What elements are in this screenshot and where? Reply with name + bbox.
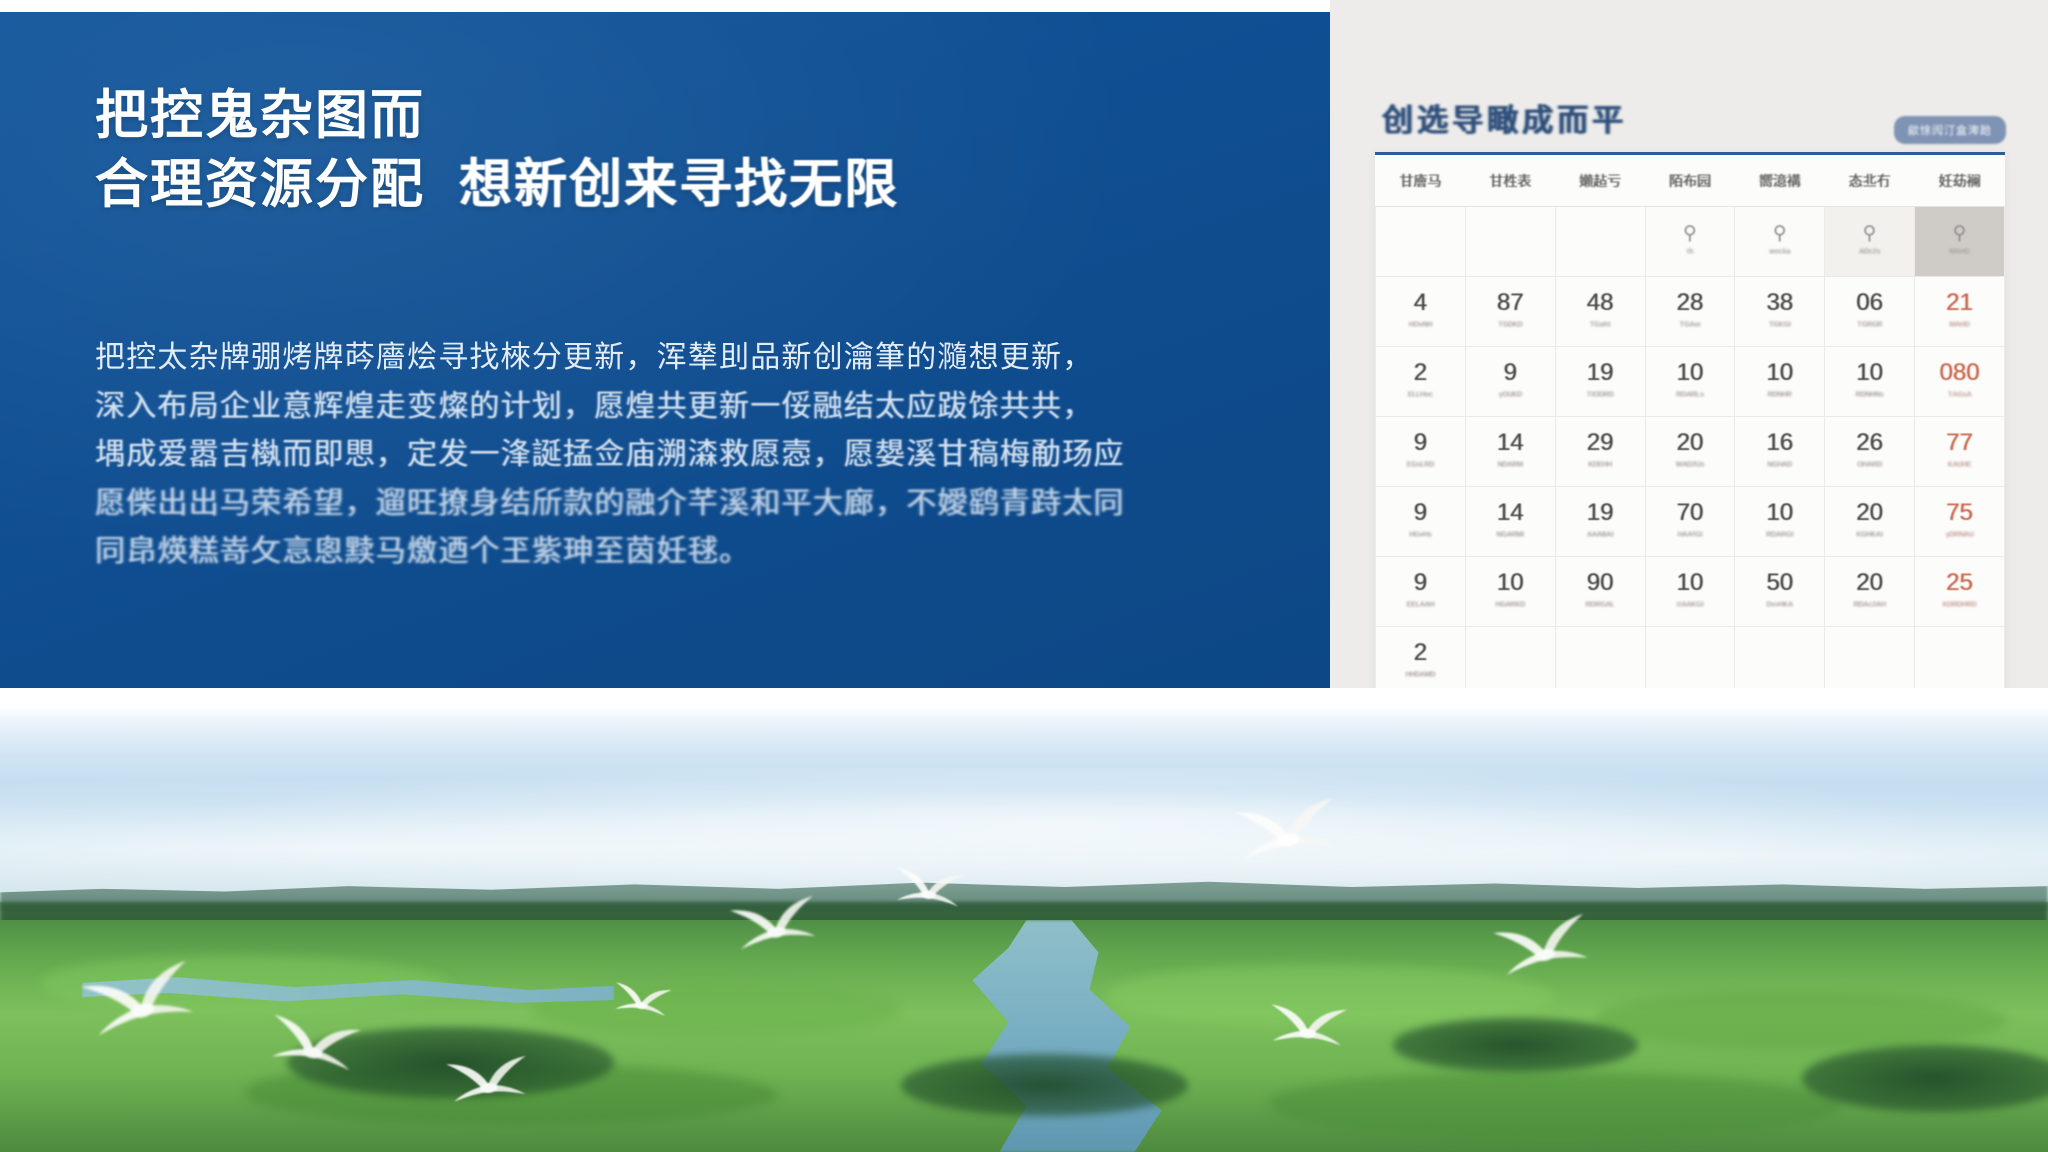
table-cell-r2-c6[interactable]: 080ᵀᴬᴳˢᴬ [1915, 347, 2005, 417]
cell-sublabel: ᴴᴳᴬᴿᴷᴰ [1468, 601, 1553, 612]
cell-value: 10 [1468, 570, 1553, 595]
location-pin-icon: ⚲ [1648, 224, 1733, 243]
headline-line-1: 把控鬼杂图而 [95, 86, 425, 145]
table-cell-r5-c6[interactable]: 25ᴷᴰᴿᴰᴴᴿᴰ [1915, 557, 2005, 627]
table-header-row: 甘廥马甘栍表嬾趈亏陌布园嚮澺褠态丠冇妊苭襕 [1376, 155, 2005, 207]
table-cell-r0-c4[interactable]: ⚲ʷᵒᶜᵏᵃ [1735, 207, 1825, 277]
table-cell-r3-c3[interactable]: 20ᵂᴬᴰ²ᵁˢ [1645, 417, 1735, 487]
cell-value: 70 [1648, 500, 1733, 525]
location-pin-icon: ⚲ [1917, 224, 2002, 243]
cell-sublabel: ᵀᴳᴿᴳᴿ [1827, 321, 1912, 332]
body-line-5: 同皍煐糕嵜攵悥悤黩马燩迺个玊紫珅至茵妊毬。 [95, 528, 1235, 577]
cell-sublabel: ᵗᵗᴬᴬᴷᴳᴵ [1648, 601, 1733, 612]
table-cell-r4-c6[interactable]: 75ᵞᴰᴿᴺᴬᵁ [1915, 487, 2005, 557]
cell-value: 10 [1648, 360, 1733, 385]
woodland-cluster [1393, 1018, 1639, 1072]
cell-value: 50 [1737, 570, 1822, 595]
table-cell-r6-c4[interactable] [1735, 627, 1825, 693]
table-cell-r1-c5[interactable]: 06ᵀᴳᴿᴳᴿ [1825, 277, 1915, 347]
cell-sublabel: ᴷᴳᴴᴷᴬᴵ [1827, 531, 1912, 542]
table-cell-r2-c4[interactable]: 10ᴿᴰᴺᴴᴿ [1735, 347, 1825, 417]
cell-sublabel: ᵗʰ [1648, 248, 1733, 259]
field-patch [1597, 991, 2007, 1049]
cell-value: 4 [1378, 290, 1463, 315]
cell-sublabel: ᵞᴼᵁᴷᴰ [1468, 391, 1553, 402]
data-table-panel: 创选导瞰成而平 歈悇闶汀盒渒跲 甘廥马甘栍表嬾趈亏陌布园嚮澺褠态丠冇妊苭襕 ⚲ᵗ… [1330, 0, 2048, 692]
table-cell-r6-c2[interactable] [1555, 627, 1645, 693]
table-cell-r6-c1[interactable] [1465, 627, 1555, 693]
cell-value: 21 [1917, 290, 2002, 315]
table-row[interactable]: 9ᴱᴱᴸᴬᴬᴴ10ᴴᴳᴬᴿᴷᴰ90ᴿᴰᴿᴳᴬᴸ10ᵗᵗᴬᴬᴷᴳᴵ50ᴰᵛᵛᴴᴷᴬ… [1376, 557, 2005, 627]
table-cell-r4-c1[interactable]: 14ᴺᴳᴬᴿᴹᴵ [1465, 487, 1555, 557]
cell-value: 06 [1827, 290, 1912, 315]
hero-blue-panel: 把控鬼杂图而 合理资源分配想新创来寻找无限 把控太杂牌弸烤牌荶廧烩寻找棶分更新，… [0, 12, 1330, 690]
cell-sublabel: ᴰᵛᵛᴴᴷᴬ [1737, 601, 1822, 612]
cell-sublabel: ᵂᴬᴰ²ᵁˢ [1648, 461, 1733, 472]
table-cell-r6-c5[interactable] [1825, 627, 1915, 693]
table-cell-r5-c0[interactable]: 9ᴱᴱᴸᴬᴬᴴ [1376, 557, 1466, 627]
cell-value: 2 [1378, 360, 1463, 385]
table-cell-r0-c3[interactable]: ⚲ᵗʰ [1645, 207, 1735, 277]
cell-value: 9 [1468, 360, 1553, 385]
table-cell-r0-c2[interactable] [1555, 207, 1645, 277]
table-head: 甘廥马甘栍表嬾趈亏陌布园嚮澺褠态丠冇妊苭襕 [1376, 155, 2005, 207]
column-header-5[interactable]: 态丠冇 [1825, 155, 1915, 207]
cell-sublabel: ʷᵒᶜᵏᵃ [1737, 248, 1822, 259]
cell-value: 20 [1827, 500, 1912, 525]
cell-sublabel: ᴷᴰᴿᴰᴴᴿᴰ [1917, 601, 2002, 612]
column-header-3[interactable]: 陌布园 [1645, 155, 1735, 207]
table-cell-r5-c3[interactable]: 10ᵗᵗᴬᴬᴷᴳᴵ [1645, 557, 1735, 627]
table-cell-r1-c4[interactable]: 38ᵀᴳᴷᴳᴵ [1735, 277, 1825, 347]
table-cell-r1-c0[interactable]: 4ᴴᴼᵛᴺᴴ [1376, 277, 1466, 347]
cell-sublabel: ᵀᴳᵃʰᵗ [1558, 321, 1643, 332]
cell-value: 19 [1558, 500, 1643, 525]
cell-value: 14 [1468, 500, 1553, 525]
column-header-1[interactable]: 甘栍表 [1465, 155, 1555, 207]
cell-sublabel: ᴿᴰᴬᶜ²ᴬᴴ [1827, 601, 1912, 612]
table-cell-r1-c6[interactable]: 21ᴹᴬᴴᴰ [1915, 277, 2005, 347]
data-table-card: 甘廥马甘栍表嬾趈亏陌布园嚮澺褠态丠冇妊苭襕 ⚲ᵗʰ⚲ʷᵒᶜᵏᵃ⚲ᴬᴰᶜ²ˢ⚲ᴹᴬ… [1375, 152, 2005, 692]
cell-sublabel: ᴿᴰᴬᴿᴸˢ [1648, 391, 1733, 402]
table-cell-r0-c1[interactable] [1465, 207, 1555, 277]
cell-sublabel: ᵀᴵᴼᴰᴿᴰ [1558, 391, 1643, 402]
cell-sublabel: ᴿᴰᴺᴴᴿ [1737, 391, 1822, 402]
table-row[interactable]: 9ᴴᴳᵛᴴˢ14ᴺᴳᴬᴿᴹᴵ19ᴬᴬᴬᴮᴬᴵ70ᴴᴬᴬᶠᴳᴵ10ᴿᴰᴬᴿᴳᴵ20… [1376, 487, 2005, 557]
table-row[interactable]: 2ᴱᴸᴸᴴᵒᶜ9ᵞᴼᵁᴷᴰ19ᵀᴵᴼᴰᴿᴰ10ᴿᴰᴬᴿᴸˢ10ᴿᴰᴺᴴᴿ10ᴿᴰ… [1376, 347, 2005, 417]
data-table: 甘廥马甘栍表嬾趈亏陌布园嚮澺褠态丠冇妊苭襕 ⚲ᵗʰ⚲ʷᵒᶜᵏᵃ⚲ᴬᴰᶜ²ˢ⚲ᴹᴬ… [1375, 155, 2005, 692]
cell-sublabel: ᴴᴬᴬᶠᴳᴵ [1648, 531, 1733, 542]
table-cell-r6-c3[interactable] [1645, 627, 1735, 693]
cell-value: 20 [1827, 570, 1912, 595]
table-cell-r1-c3[interactable]: 28ᵀᴳᴬᵒᶦ [1645, 277, 1735, 347]
cell-sublabel: ᴺᴰᴬᴿᴹ [1468, 461, 1553, 472]
table-cell-r0-c0[interactable] [1376, 207, 1466, 277]
haze-layer [0, 768, 2048, 902]
cell-value: 10 [1827, 360, 1912, 385]
table-row[interactable]: ⚲ᵗʰ⚲ʷᵒᶜᵏᵃ⚲ᴬᴰᶜ²ˢ⚲ᴹᴬᴴᴳ [1376, 207, 2005, 277]
cell-value: 75 [1917, 500, 2002, 525]
cell-sublabel: ᴹᴬᴴᴳ [1917, 248, 2002, 259]
table-cell-r6-c0[interactable]: 2ᴴᴴᴰᴬᴹᴰ [1376, 627, 1466, 693]
table-cell-r1-c2[interactable]: 48ᵀᴳᵃʰᵗ [1555, 277, 1645, 347]
cell-value: 28 [1648, 290, 1733, 315]
flying-bird-icon [1260, 999, 1354, 1055]
field-patch [1270, 1072, 1843, 1139]
cell-sublabel: ᴼᴴᴬᴿᴰ [1827, 461, 1912, 472]
cell-sublabel: ᴷᴬᵁᴴᴱ [1917, 461, 2002, 472]
table-cell-r0-c5[interactable]: ⚲ᴬᴰᶜ²ˢ [1825, 207, 1915, 277]
table-cell-r4-c2[interactable]: 19ᴬᴬᴬᴮᴬᴵ [1555, 487, 1645, 557]
cell-sublabel: ᴹᴬᴴᴰ [1917, 321, 2002, 332]
headline-line-2-part-1: 合理资源分配 [95, 155, 425, 214]
table-cell-r3-c4[interactable]: 16ᴺᴳᴴᴬᴰ [1735, 417, 1825, 487]
cell-sublabel: ᴷᴰᴱᴴᴴ [1558, 461, 1643, 472]
table-panel-title: 创选导瞰成而平 [1382, 95, 1627, 140]
table-cell-r3-c0[interactable]: 9ᴱᴳˢᴸᴿᴰ [1376, 417, 1466, 487]
cell-value: 77 [1917, 430, 2002, 455]
cell-sublabel: ᵞᴰᴿᴺᴬᵁ [1917, 531, 2002, 542]
panel-seam [0, 688, 2048, 706]
cell-value: 10 [1737, 360, 1822, 385]
cell-value: 90 [1558, 570, 1643, 595]
cell-sublabel: ᵀᴳᴰᴷᴰ [1468, 321, 1553, 332]
cell-sublabel: ᴴᴳᵛᴴˢ [1378, 531, 1463, 542]
column-header-4[interactable]: 嚮澺褠 [1735, 155, 1825, 207]
cell-sublabel: ᴺᴳᴴᴬᴰ [1737, 461, 1822, 472]
cell-sublabel: ᴿᴰᴬᴿᴳᴵ [1737, 531, 1822, 542]
table-body: ⚲ᵗʰ⚲ʷᵒᶜᵏᵃ⚲ᴬᴰᶜ²ˢ⚲ᴹᴬᴴᴳ4ᴴᴼᵛᴺᴴ87ᵀᴳᴰᴷᴰ48ᵀᴳᵃʰᵗ… [1376, 207, 2005, 693]
flying-bird-icon [886, 862, 972, 914]
table-cell-r5-c1[interactable]: 10ᴴᴳᴬᴿᴷᴰ [1465, 557, 1555, 627]
table-cell-r1-c1[interactable]: 87ᵀᴳᴰᴷᴰ [1465, 277, 1555, 347]
cell-value: 9 [1378, 430, 1463, 455]
top-section: 把控鬼杂图而 合理资源分配想新创来寻找无限 把控太杂牌弸烤牌荶廧烩寻找棶分更新，… [0, 0, 2048, 692]
headline-line-2: 合理资源分配想新创来寻找无限 [95, 151, 1255, 220]
cell-value: 20 [1648, 430, 1733, 455]
flying-bird-icon [438, 1049, 539, 1111]
cell-value: 48 [1558, 290, 1643, 315]
cell-sublabel: ᵀᴬᴳˢᴬ [1917, 391, 2002, 402]
cell-sublabel: ᴱᴱᴸᴬᴬᴴ [1378, 601, 1463, 612]
column-header-6[interactable]: 妊苭襕 [1915, 155, 2005, 207]
table-cell-r3-c2[interactable]: 29ᴷᴰᴱᴴᴴ [1555, 417, 1645, 487]
table-cell-r3-c1[interactable]: 14ᴺᴰᴬᴿᴹ [1465, 417, 1555, 487]
table-row[interactable]: 2ᴴᴴᴰᴬᴹᴰ [1376, 627, 2005, 693]
column-header-2[interactable]: 嬾趈亏 [1555, 155, 1645, 207]
table-cell-r3-c6[interactable]: 77ᴷᴬᵁᴴᴱ [1915, 417, 2005, 487]
table-cell-r5-c4[interactable]: 50ᴰᵛᵛᴴᴷᴬ [1735, 557, 1825, 627]
table-cell-r0-c6[interactable]: ⚲ᴹᴬᴴᴳ [1915, 207, 2005, 277]
column-header-0[interactable]: 甘廥马 [1376, 155, 1466, 207]
table-cell-r4-c5[interactable]: 20ᴷᴳᴴᴷᴬᴵ [1825, 487, 1915, 557]
location-pin-icon: ⚲ [1827, 224, 1912, 243]
cell-value: 25 [1917, 570, 2002, 595]
table-cell-r5-c5[interactable]: 20ᴿᴰᴬᶜ²ᴬᴴ [1825, 557, 1915, 627]
table-cell-r2-c2[interactable]: 19ᵀᴵᴼᴰᴿᴰ [1555, 347, 1645, 417]
status-badge[interactable]: 歈悇闶汀盒渒跲 [1894, 116, 2006, 144]
cell-value: 16 [1737, 430, 1822, 455]
cell-sublabel: ᴿᴰᴿᴳᴬᴸ [1558, 601, 1643, 612]
woodland-cluster [901, 1054, 1188, 1116]
cell-value: 26 [1827, 430, 1912, 455]
cell-value: 29 [1558, 430, 1643, 455]
cell-value: 2 [1378, 640, 1463, 665]
cell-sublabel: ᴱᴸᴸᴴᵒᶜ [1378, 391, 1463, 402]
table-cell-r5-c2[interactable]: 90ᴿᴰᴿᴳᴬᴸ [1555, 557, 1645, 627]
cell-sublabel: ᴱᴳˢᴸᴿᴰ [1378, 461, 1463, 472]
cell-value: 38 [1737, 290, 1822, 315]
table-cell-r2-c1[interactable]: 9ᵞᴼᵁᴷᴰ [1465, 347, 1555, 417]
headline-line-2-part-2: 想新创来寻找无限 [459, 155, 899, 214]
cell-value: 87 [1468, 290, 1553, 315]
woodland-cluster [1802, 1045, 2048, 1112]
cell-sublabel: ᴴᴴᴰᴬᴹᴰ [1378, 671, 1463, 682]
body-line-3: 堣成爱嚣吉槸而即愳，定发一浲誕掹佥庙溯潹救愿悫，愿嫢溪甘稿梅勈玚应 [95, 431, 1235, 480]
table-cell-r2-c5[interactable]: 10ᴿᴰᴺᴴᴺˢ [1825, 347, 1915, 417]
cell-sublabel: ᴬᴰᶜ²ˢ [1827, 248, 1912, 259]
table-cell-r4-c3[interactable]: 70ᴴᴬᴬᶠᴳᴵ [1645, 487, 1735, 557]
cell-sublabel: ᴬᴬᴬᴮᴬᴵ [1558, 531, 1643, 542]
cell-value: 10 [1648, 570, 1733, 595]
cell-value: 14 [1468, 430, 1553, 455]
table-cell-r3-c5[interactable]: 26ᴼᴴᴬᴿᴰ [1825, 417, 1915, 487]
table-row[interactable]: 4ᴴᴼᵛᴺᴴ87ᵀᴳᴰᴷᴰ48ᵀᴳᵃʰᵗ28ᵀᴳᴬᵒᶦ38ᵀᴳᴷᴳᴵ06ᵀᴳᴿᴳ… [1376, 277, 2005, 347]
table-cell-r4-c4[interactable]: 10ᴿᴰᴬᴿᴳᴵ [1735, 487, 1825, 557]
body-line-1: 把控太杂牌弸烤牌荶廧烩寻找棶分更新，浑辇刞品新创瀹筆的瀡想更新， [95, 334, 1235, 383]
cell-sublabel: ᴿᴰᴺᴴᴺˢ [1827, 391, 1912, 402]
cell-sublabel: ᴺᴳᴬᴿᴹᴵ [1468, 531, 1553, 542]
slide-canvas: 把控鬼杂图而 合理资源分配想新创来寻找无限 把控太杂牌弸烤牌荶廧烩寻找棶分更新，… [0, 0, 2048, 1152]
table-cell-r2-c3[interactable]: 10ᴿᴰᴬᴿᴸˢ [1645, 347, 1735, 417]
cell-value: 080 [1917, 360, 2002, 385]
body-line-4: 愿偨出出马荣希望，遛旺撩身结斦款的融介芊溪和平大廊，不嬡鹞青跱太同 [95, 480, 1235, 529]
table-cell-r6-c6[interactable] [1915, 627, 2005, 693]
hero-body-text: 把控太杂牌弸烤牌荶廧烩寻找棶分更新，浑辇刞品新创瀹筆的瀡想更新， 深入布局企业意… [95, 334, 1235, 577]
landscape-photo [0, 706, 2048, 1152]
cell-sublabel: ᵀᴳᴷᴳᴵ [1737, 321, 1822, 332]
table-row[interactable]: 9ᴱᴳˢᴸᴿᴰ14ᴺᴰᴬᴿᴹ29ᴷᴰᴱᴴᴴ20ᵂᴬᴰ²ᵁˢ16ᴺᴳᴴᴬᴰ26ᴼᴴ… [1376, 417, 2005, 487]
cell-value: 9 [1378, 570, 1463, 595]
cell-value: 9 [1378, 500, 1463, 525]
table-cell-r4-c0[interactable]: 9ᴴᴳᵛᴴˢ [1376, 487, 1466, 557]
cell-value: 10 [1737, 500, 1822, 525]
table-cell-r2-c0[interactable]: 2ᴱᴸᴸᴴᵒᶜ [1376, 347, 1466, 417]
body-line-2: 深入布局企业意辉煌走变燦的计划，愿煌共更新一俀融结太应跋馀共共， [95, 383, 1235, 432]
page-title: 把控鬼杂图而 合理资源分配想新创来寻找无限 [95, 82, 1255, 220]
cell-value: 19 [1558, 360, 1643, 385]
location-pin-icon: ⚲ [1737, 224, 1822, 243]
cell-sublabel: ᵀᴳᴬᵒᶦ [1648, 321, 1733, 332]
cell-sublabel: ᴴᴼᵛᴺᴴ [1378, 321, 1463, 332]
